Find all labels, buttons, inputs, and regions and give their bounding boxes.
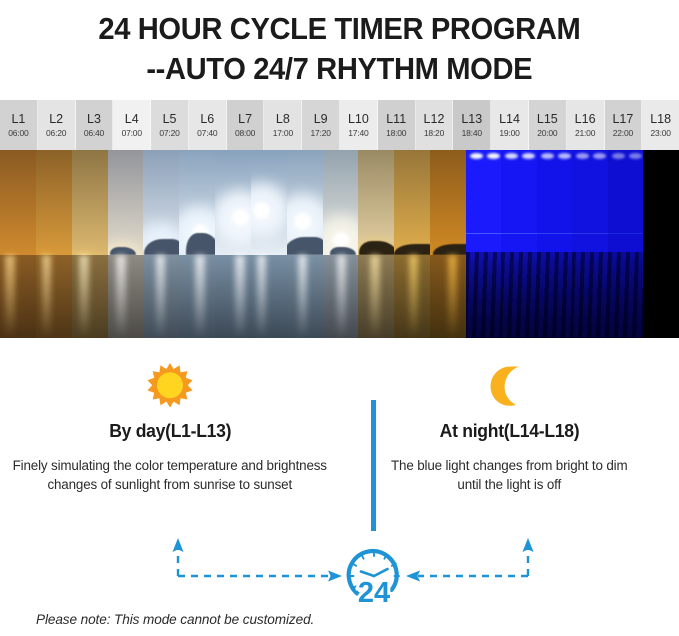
dashed-arrow-left-icon	[418, 549, 528, 576]
timeline-cell-time: 20:00	[537, 129, 557, 138]
moon-icon-svg	[487, 364, 531, 408]
timeline-cell-time: 18:20	[424, 129, 444, 138]
timeline-cell-code: L15	[537, 113, 558, 126]
strip-segment-l12	[394, 150, 430, 338]
timeline-cell-code: L1	[11, 113, 25, 126]
timeline-cell-time: 19:00	[499, 129, 519, 138]
timeline-cell-l3: L306:40	[76, 100, 114, 150]
strip-segment-l3	[72, 150, 108, 338]
panel-by-day: By day(L1-L13) Finely simulating the col…	[0, 338, 340, 538]
timeline-cell-code: L9	[314, 113, 328, 126]
timeline-cell-code: L2	[49, 113, 63, 126]
strip-segment-l11	[358, 150, 394, 338]
note-text: Please note: This mode cannot be customi…	[36, 612, 314, 627]
strip-segment-l16	[537, 150, 572, 338]
strip-segment-l10	[323, 150, 359, 338]
timeline-cell-code: L16	[575, 113, 596, 126]
panel-heading-day: By day(L1-L13)	[109, 420, 231, 442]
strip-segment-l9	[287, 150, 323, 338]
timeline-cell-l2: L206:20	[38, 100, 76, 150]
timeline-cell-time: 07:20	[159, 129, 179, 138]
day-night-image-strip	[0, 150, 679, 338]
timeline-cell-code: L11	[386, 113, 406, 126]
strip-segment-l5	[143, 150, 179, 338]
timeline-cell-l6: L607:40	[189, 100, 227, 150]
timeline-cell-time: 21:00	[575, 129, 595, 138]
timeline-cell-l5: L507:20	[151, 100, 189, 150]
timeline-cell-code: L13	[461, 113, 482, 126]
timeline-cell-code: L7	[238, 113, 252, 126]
timeline-cell-code: L4	[125, 113, 139, 126]
timeline-cell-code: L18	[650, 113, 671, 126]
timeline-cell-l13: L1318:40	[453, 100, 491, 150]
timeline-header: L106:00L206:20L306:40L407:00L507:20L607:…	[0, 100, 679, 150]
strip-segment-l7	[215, 150, 251, 338]
timeline-cell-time: 22:00	[613, 129, 633, 138]
mode-panels: By day(L1-L13) Finely simulating the col…	[0, 338, 679, 538]
strip-segment-off	[643, 150, 679, 338]
timeline-cell-l17: L1722:00	[605, 100, 643, 150]
timeline-cell-l15: L1520:00	[529, 100, 567, 150]
timeline-cell-time: 17:20	[311, 129, 331, 138]
strip-segment-l6	[179, 150, 215, 338]
timeline-cell-l9: L917:20	[302, 100, 340, 150]
timeline-cell-time: 06:20	[46, 129, 66, 138]
timeline-cell-l7: L708:00	[227, 100, 265, 150]
timeline-cell-l18: L1823:00	[642, 100, 679, 150]
timeline-cell-code: L5	[163, 113, 177, 126]
strip-segment-l13	[430, 150, 466, 338]
timeline-cell-time: 06:40	[84, 129, 104, 138]
strip-segment-l17	[572, 150, 607, 338]
timeline-cell-code: L6	[200, 113, 214, 126]
timeline-cell-l8: L817:00	[264, 100, 302, 150]
timeline-cell-l10: L1017:40	[340, 100, 378, 150]
dashed-arrow-right-icon	[178, 549, 330, 576]
timeline-cell-time: 18:00	[386, 129, 406, 138]
timeline-cell-code: L17	[612, 113, 633, 126]
panel-at-night: At night(L14-L18) The blue light changes…	[340, 338, 679, 538]
panel-body-day: Finely simulating the color temperature …	[5, 456, 335, 495]
title-line-2: --AUTO 24/7 RHYTHM MODE	[147, 49, 533, 89]
strip-segment-l4	[108, 150, 144, 338]
strip-segment-l1	[0, 150, 36, 338]
timeline-cell-time: 18:40	[462, 129, 482, 138]
sun-icon	[146, 358, 194, 414]
strip-segment-l15	[501, 150, 536, 338]
moon-icon	[487, 358, 531, 414]
timeline-cell-code: L8	[276, 113, 290, 126]
timeline-cell-code: L3	[87, 113, 101, 126]
timeline-cell-l11: L1118:00	[378, 100, 416, 150]
timeline-cell-code: L10	[348, 113, 369, 126]
timeline-cell-code: L14	[499, 113, 520, 126]
timeline-cell-l12: L1218:20	[416, 100, 454, 150]
timeline-cell-time: 07:40	[197, 129, 217, 138]
timeline-cell-time: 17:40	[348, 129, 368, 138]
strip-segment-l2	[36, 150, 72, 338]
strip-segment-l8	[251, 150, 287, 338]
timeline-cell-time: 23:00	[651, 129, 671, 138]
sun-icon-svg	[146, 362, 194, 410]
timeline-cell-l14: L1419:00	[491, 100, 529, 150]
panel-heading-night: At night(L14-L18)	[439, 420, 579, 442]
panel-body-night: The blue light changes from bright to di…	[384, 456, 634, 495]
timeline-cell-time: 08:00	[235, 129, 255, 138]
timeline-cell-code: L12	[424, 113, 445, 126]
strip-segment-l18	[608, 150, 643, 338]
timeline-cell-time: 17:00	[273, 129, 293, 138]
timeline-cell-l4: L407:00	[113, 100, 151, 150]
title-line-1: 24 HOUR CYCLE TIMER PROGRAM	[98, 9, 580, 49]
page-title: 24 HOUR CYCLE TIMER PROGRAM --AUTO 24/7 …	[0, 0, 679, 98]
timeline-cell-time: 07:00	[122, 129, 142, 138]
timeline-cell-time: 06:00	[8, 129, 28, 138]
strip-segment-l14	[466, 150, 501, 338]
infographic-page: 24 HOUR CYCLE TIMER PROGRAM --AUTO 24/7 …	[0, 0, 679, 636]
clock-24-icon: 24 24	[339, 546, 409, 604]
panel-divider	[371, 400, 376, 531]
timeline-cell-l1: L106:00	[0, 100, 38, 150]
timeline-cell-l16: L1621:00	[567, 100, 605, 150]
clock-label: 24	[358, 577, 390, 604]
